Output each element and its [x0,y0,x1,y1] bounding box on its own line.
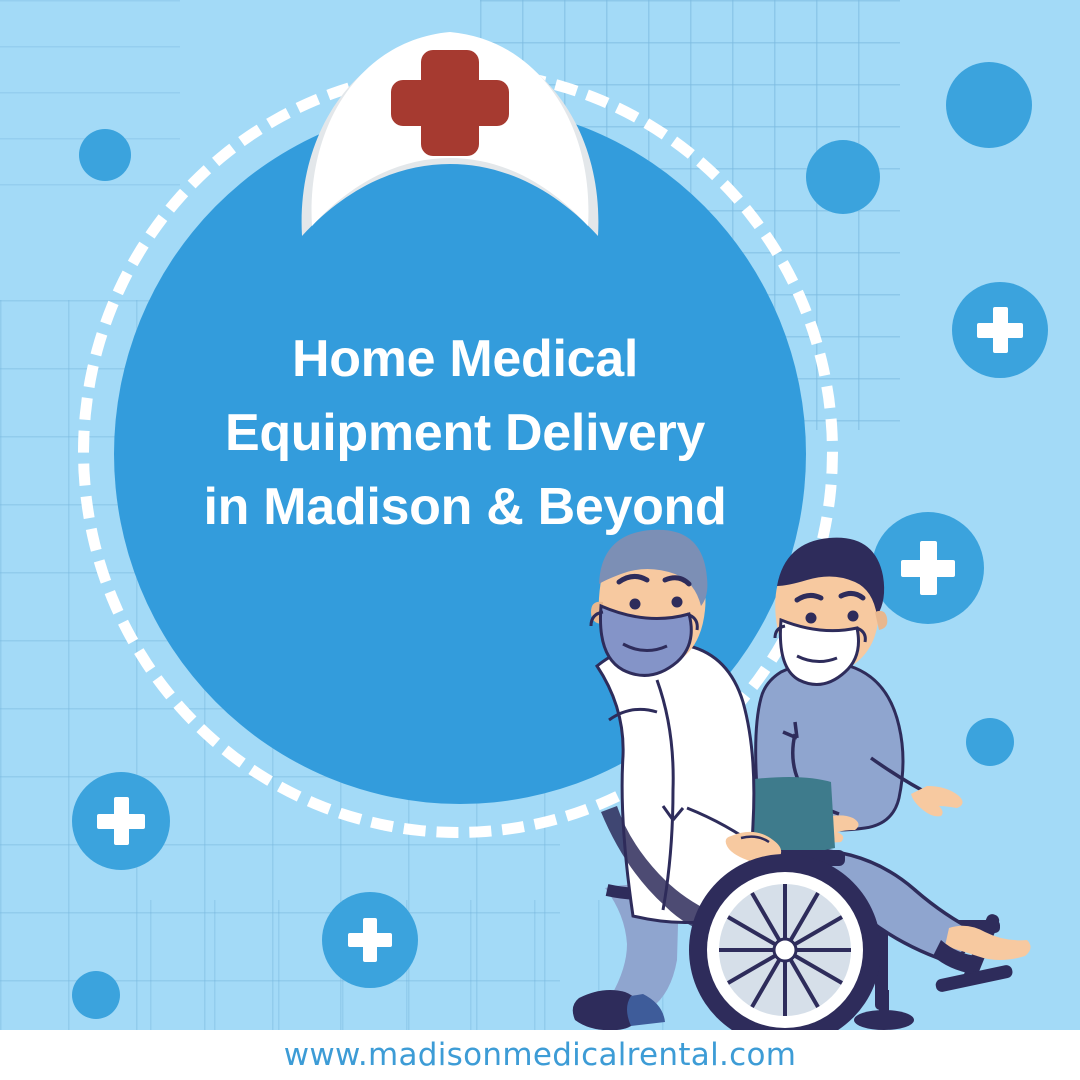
plus-badge-bottom-mid [322,892,418,988]
poster-canvas: Home Medical Equipment Delivery in Madis… [0,0,1080,1080]
nurse-cap-icon [290,14,610,244]
plus-icon [114,797,129,845]
plus-badge-right-upper [952,282,1048,378]
nurse-pushing-patient-illustration [545,520,1080,1040]
footer-bar: www.madisonmedicalrental.com [0,1030,1080,1080]
dot-top-right [946,62,1032,148]
plus-badge-left-lower [72,772,170,870]
headline-line-1: Home Medical [120,322,810,396]
page-title: Home Medical Equipment Delivery in Madis… [120,322,810,544]
plus-icon [993,307,1008,353]
dot-bottom-left [72,971,120,1019]
dot-top-left [79,129,131,181]
dot-upper-right [806,140,880,214]
headline-line-2: Equipment Delivery [120,396,810,470]
website-url[interactable]: www.madisonmedicalrental.com [284,1037,797,1073]
plus-icon [363,918,377,962]
wheelchair-wheel [689,854,881,1040]
